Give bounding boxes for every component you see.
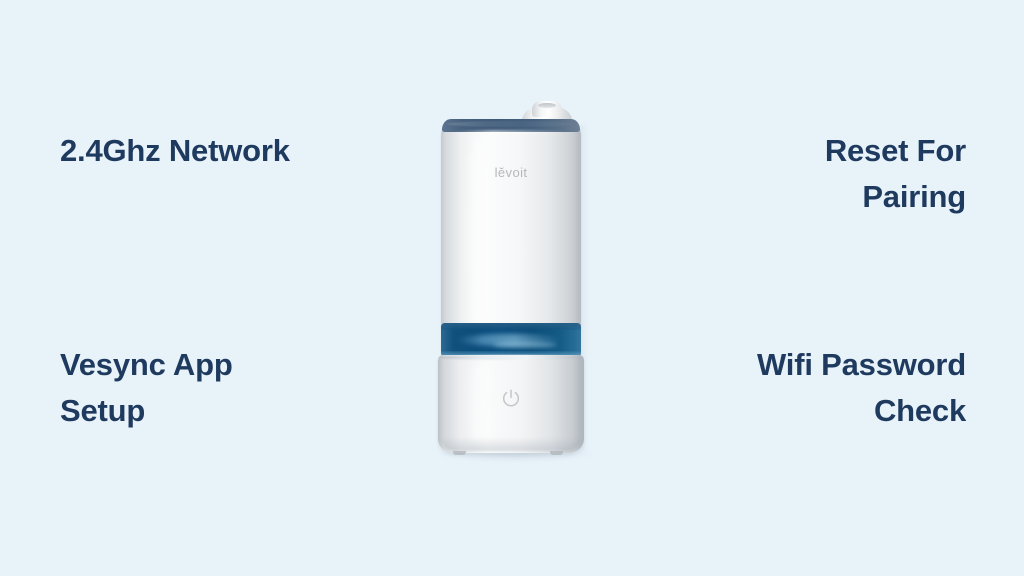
- callout-reset-for-pairing: Reset For Pairing: [636, 128, 966, 220]
- tank-highlight: [464, 129, 494, 351]
- power-icon: [500, 387, 522, 409]
- mist-nozzle-outlet: [538, 103, 556, 108]
- base-foot-right: [550, 451, 563, 455]
- tank-rim-highlight: [450, 130, 570, 134]
- brand-logo: lĕvoit: [441, 165, 581, 180]
- base-bottom-shading: [442, 437, 580, 451]
- base-highlight: [466, 361, 494, 445]
- product-edge-shadow: [578, 125, 588, 451]
- tank-rim-inner-ring: [447, 121, 575, 127]
- water-window-glint-2: [493, 342, 557, 348]
- base-foot-left: [453, 451, 466, 455]
- callout-wifi-password-check: Wifi Password Check: [636, 342, 966, 434]
- water-window-top-shade: [441, 323, 581, 330]
- callout-vesync-app-setup: Vesync App Setup: [60, 342, 390, 434]
- callout-24ghz-network: 2.4Ghz Network: [60, 128, 390, 174]
- base-top-edge: [439, 355, 583, 360]
- humidifier-product-image: lĕvoit: [420, 95, 610, 475]
- water-level-window: [441, 323, 581, 357]
- slide-canvas: 2.4Ghz Network Reset For Pairing Vesync …: [0, 0, 1024, 576]
